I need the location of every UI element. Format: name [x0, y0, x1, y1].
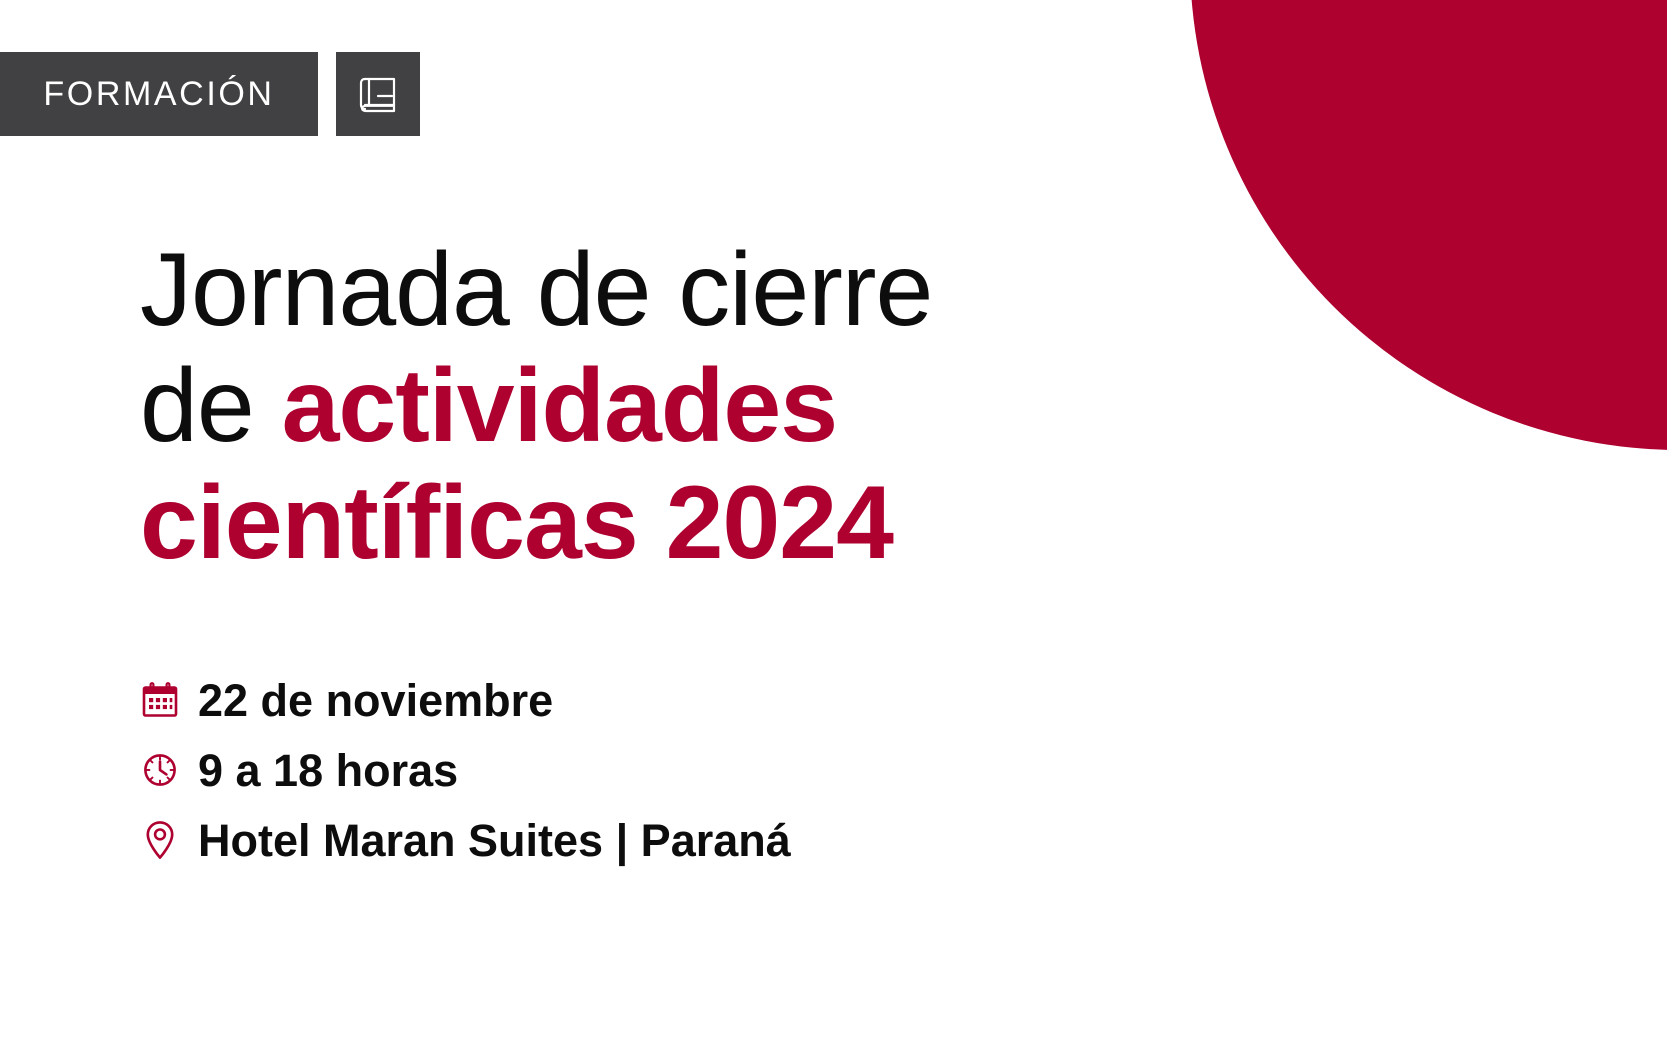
detail-text-location: Hotel Maran Suites | Paraná: [198, 818, 791, 863]
book-icon-badge: [336, 52, 420, 136]
headline-line-3-text: científicas 2024: [140, 465, 893, 581]
book-icon: [354, 70, 402, 118]
headline-line-2-prefix: de: [140, 348, 282, 464]
headline: Jornada de cierre de actividades científ…: [140, 232, 1140, 581]
event-announcement-banner: FORMACIÓN Jornada de cierre de actividad…: [0, 0, 1667, 1042]
detail-text-date: 22 de noviembre: [198, 678, 553, 723]
badge-row: FORMACIÓN: [0, 52, 420, 136]
headline-line-2: de actividades: [140, 348, 1140, 464]
category-badge: FORMACIÓN: [0, 52, 318, 136]
headline-line-1-text: Jornada de cierre: [140, 232, 932, 348]
headline-line-3: científicas 2024: [140, 465, 1140, 581]
headline-line-1: Jornada de cierre: [140, 232, 1140, 348]
decorative-circle: [1190, 0, 1667, 450]
headline-line-2-emphasis: actividades: [282, 348, 838, 464]
category-badge-label: FORMACIÓN: [43, 77, 274, 111]
detail-row-date: 22 de noviembre: [140, 672, 791, 728]
detail-text-time: 9 a 18 horas: [198, 748, 458, 793]
event-details-list: 22 de noviembre: [140, 672, 791, 868]
detail-row-time: 9 a 18 horas: [140, 742, 791, 798]
clock-icon: [140, 748, 180, 792]
map-pin-icon: [140, 818, 180, 862]
detail-row-location: Hotel Maran Suites | Paraná: [140, 812, 791, 868]
calendar-icon: [140, 678, 180, 722]
